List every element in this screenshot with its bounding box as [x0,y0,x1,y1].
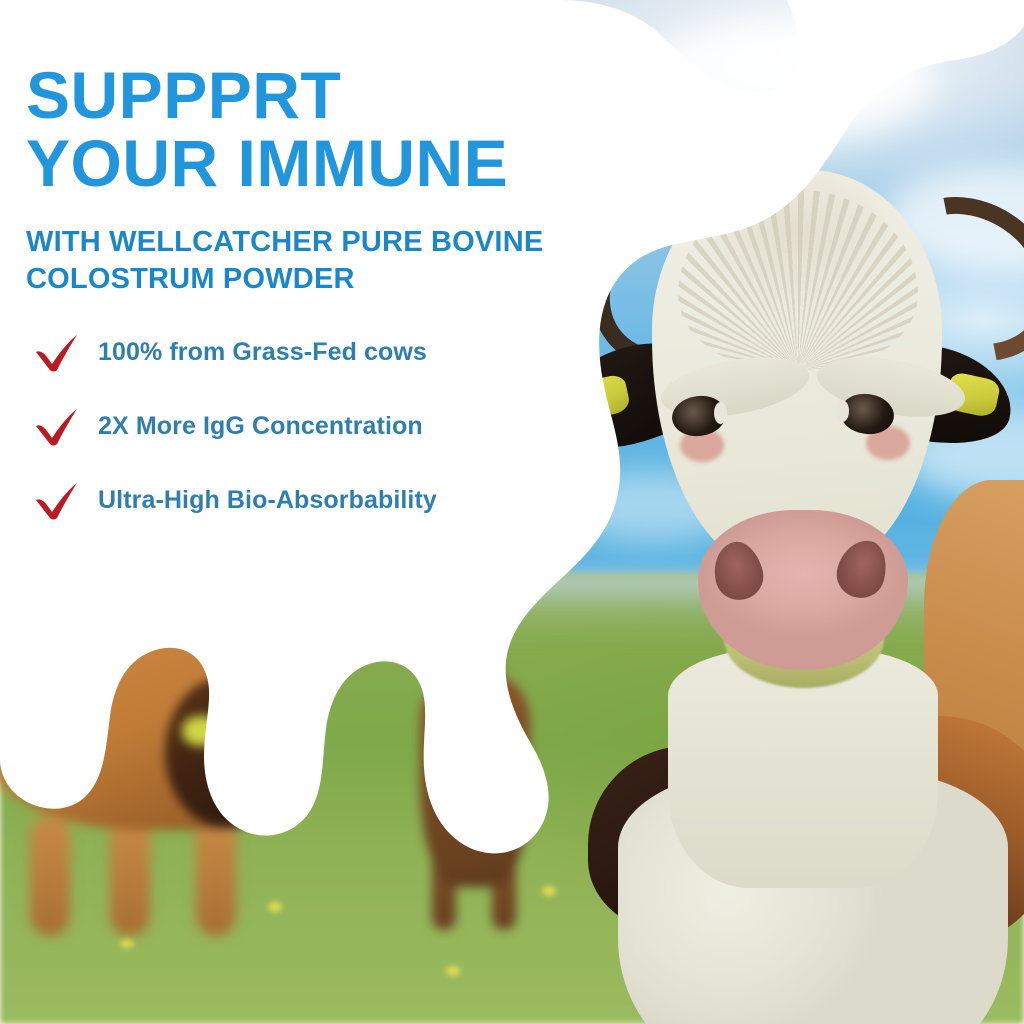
list-item: 2X More IgG Concentration [26,406,626,446]
list-item-label: Ultra-High Bio-Absorbability [98,486,437,515]
promo-poster: SUPPPRT YOUR IMMUNE WITH WELLCATCHER PUR… [0,0,1024,1024]
checkmark-icon [34,480,80,520]
list-item: Ultra-High Bio-Absorbability [26,480,626,520]
headline-line-2: YOUR IMMUNE [26,130,626,198]
subheading: WITH WELLCATCHER PURE BOVINE COLOSTRUM P… [26,224,626,298]
headline-line-1: SUPPPRT [26,62,626,130]
page-title: SUPPPRT YOUR IMMUNE [26,62,626,198]
checkmark-icon [34,406,80,446]
list-item: 100% from Grass-Fed cows [26,332,626,372]
checkmark-icon [34,332,80,372]
background-cow-left [0,630,350,930]
list-item-label: 100% from Grass-Fed cows [98,338,427,367]
wildflower [446,966,460,976]
subheading-line-1: WITH WELLCATCHER PURE BOVINE [26,224,626,261]
wildflower [120,938,134,948]
subheading-line-2: COLOSTRUM POWDER [26,261,626,298]
text-content: SUPPPRT YOUR IMMUNE WITH WELLCATCHER PUR… [26,62,626,520]
list-item-label: 2X More IgG Concentration [98,412,423,441]
cloud [635,20,935,140]
benefit-list: 100% from Grass-Fed cows 2X More IgG Con… [26,332,626,520]
